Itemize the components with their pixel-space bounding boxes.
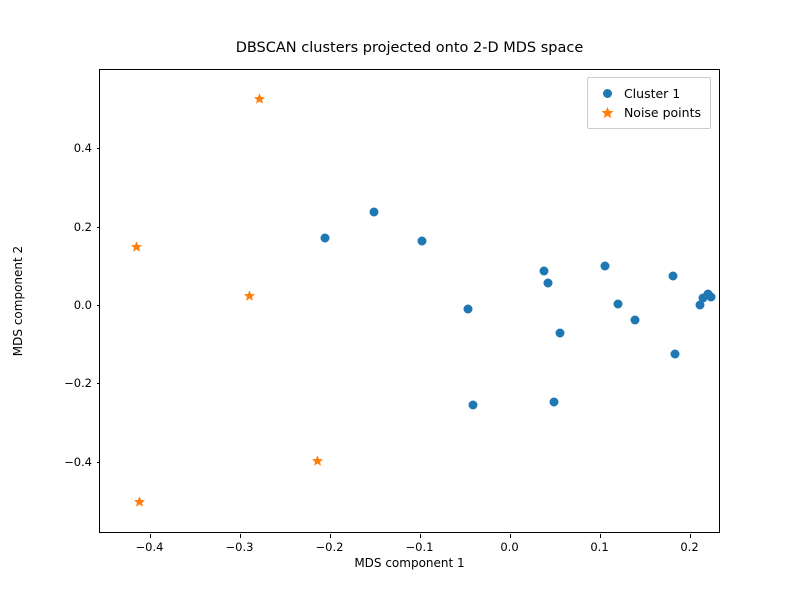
- data-point-noise-0: [254, 92, 267, 105]
- data-point-cluster-13: [671, 350, 680, 359]
- x-tick-5: [600, 534, 601, 538]
- data-point-cluster-11: [630, 316, 639, 325]
- legend-label-noise: Noise points: [621, 105, 701, 120]
- data-point-cluster-9: [600, 261, 609, 270]
- legend-entry-cluster: Cluster 1: [595, 84, 701, 103]
- x-tick-0: [150, 534, 151, 538]
- plot-area: −0.4−0.3−0.2−0.10.00.10.2−0.4−0.20.00.20…: [99, 69, 720, 533]
- data-point-cluster-4: [468, 401, 477, 410]
- matplotlib-figure: DBSCAN clusters projected onto 2-D MDS s…: [0, 0, 800, 600]
- legend-star-marker-icon: [595, 106, 621, 119]
- y-tick-label-0: −0.4: [64, 455, 92, 469]
- data-point-cluster-10: [613, 300, 622, 309]
- x-tick-label-1: −0.3: [226, 540, 254, 554]
- x-tick-1: [240, 534, 241, 538]
- legend-label-cluster: Cluster 1: [621, 86, 680, 101]
- x-tick-label-5: 0.1: [590, 540, 608, 554]
- y-tick-0: [97, 462, 101, 463]
- x-tick-label-2: −0.2: [316, 540, 344, 554]
- data-point-cluster-6: [544, 278, 553, 287]
- data-point-cluster-5: [539, 266, 548, 275]
- x-tick-4: [510, 534, 511, 538]
- y-tick-label-1: −0.2: [64, 376, 92, 390]
- y-tick-label-3: 0.2: [74, 220, 92, 234]
- y-tick-label-4: 0.4: [74, 141, 92, 155]
- data-point-cluster-3: [464, 304, 473, 313]
- data-point-cluster-17: [707, 293, 716, 302]
- x-tick-6: [690, 534, 691, 538]
- x-axis-label: MDS component 1: [99, 556, 720, 570]
- data-point-cluster-2: [418, 237, 427, 246]
- data-point-noise-1: [130, 240, 143, 253]
- x-tick-label-3: −0.1: [406, 540, 434, 554]
- y-tick-4: [97, 148, 101, 149]
- chart-title: DBSCAN clusters projected onto 2-D MDS s…: [99, 40, 720, 56]
- x-tick-label-6: 0.2: [680, 540, 698, 554]
- y-tick-3: [97, 227, 101, 228]
- legend-entry-noise: Noise points: [595, 103, 701, 122]
- data-point-cluster-7: [549, 397, 558, 406]
- y-tick-label-2: 0.0: [74, 298, 92, 312]
- chart-legend[interactable]: Cluster 1 Noise points: [587, 77, 711, 129]
- y-tick-2: [97, 305, 101, 306]
- data-point-cluster-0: [369, 207, 378, 216]
- data-point-cluster-12: [669, 271, 678, 280]
- data-point-cluster-1: [321, 234, 330, 243]
- data-point-noise-3: [311, 455, 324, 468]
- x-tick-3: [420, 534, 421, 538]
- y-axis-label: MDS component 2: [11, 246, 25, 356]
- x-tick-2: [330, 534, 331, 538]
- data-point-cluster-8: [555, 329, 564, 338]
- data-point-noise-2: [244, 290, 257, 303]
- data-point-noise-4: [133, 495, 146, 508]
- x-tick-label-4: 0.0: [500, 540, 518, 554]
- data-points-layer: [100, 70, 719, 532]
- x-tick-label-0: −0.4: [136, 540, 164, 554]
- legend-circle-marker-icon: [595, 89, 621, 98]
- y-tick-1: [97, 383, 101, 384]
